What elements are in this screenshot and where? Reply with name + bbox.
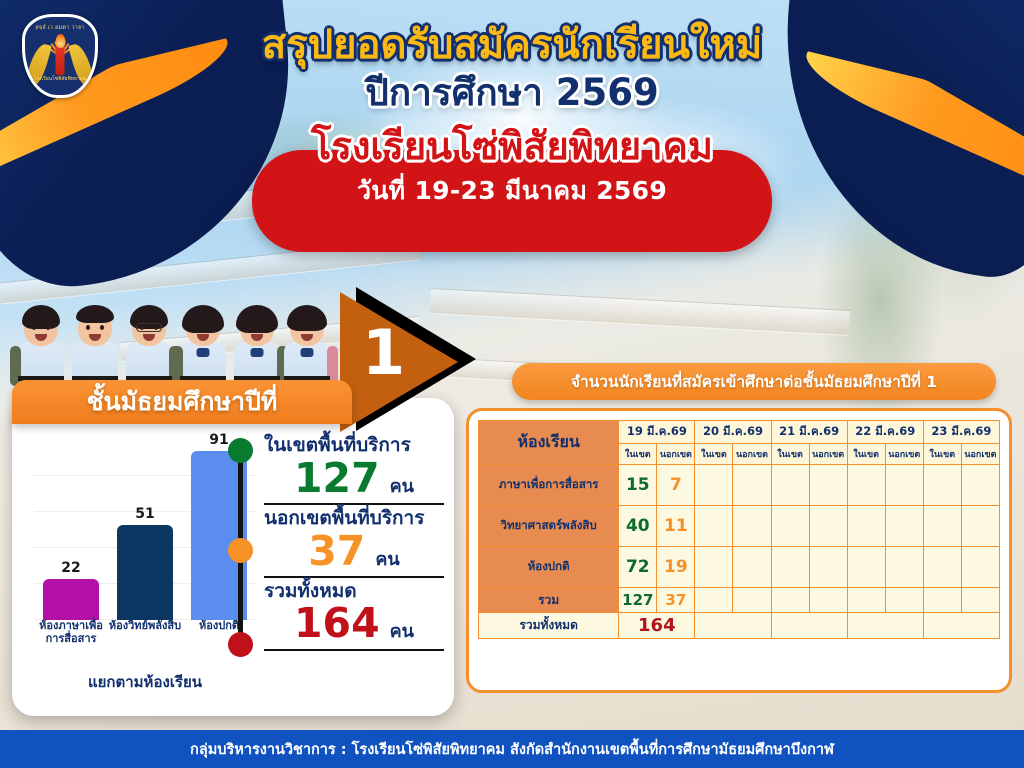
bar-series: 22 51 91 — [34, 434, 256, 620]
bar-rect — [117, 525, 173, 620]
stat-out-zone: นอกเขตพื้นที่บริการ 37 คน — [264, 507, 444, 578]
table-cell — [885, 506, 923, 547]
student-head — [240, 310, 274, 346]
left-card-header: ชั้นมัธยมศึกษาปีที่ — [12, 380, 352, 424]
table-sum-row: รวม 127 37 — [479, 588, 1000, 613]
table-subheader-in: ในเขต — [771, 444, 809, 465]
bar-chart: 22 51 91 ห้องภาษาเพื่อการสื่อสาร ห้องวิท… — [34, 434, 256, 662]
table-row-label: ภาษาเพื่อการสื่อสาร — [479, 465, 619, 506]
table-cell — [885, 588, 923, 613]
stat-unit: คน — [390, 471, 414, 500]
table-date-header: 19 มี.ค.69 — [619, 421, 695, 444]
table-row-label: ห้องปกติ — [479, 547, 619, 588]
table-cell — [923, 547, 961, 588]
wheat-icon — [68, 42, 96, 91]
stat-total: รวมทั้งหมด 164 คน — [264, 580, 444, 651]
logo-school-name: โรงเรียนโซ่พิสัยพิทยาคม — [25, 77, 95, 82]
student-head — [132, 310, 166, 346]
table-cell — [695, 465, 733, 506]
table-cell — [809, 465, 847, 506]
table-corner-header: ห้องเรียน — [479, 421, 619, 465]
bar-rect — [43, 579, 99, 620]
table-subheader-in: ในเขต — [695, 444, 733, 465]
table-grand-cell — [771, 613, 847, 639]
stat-dot-out-zone — [228, 538, 253, 563]
table-date-header: 22 มี.ค.69 — [847, 421, 923, 444]
title-line-2: ปีการศึกษา 2569 — [0, 72, 1024, 115]
table-grand-label: รวมทั้งหมด — [479, 613, 619, 639]
table-cell: 7 — [657, 465, 695, 506]
infographic-canvas: สจฺจํ เว อมตา วาจา โรงเรียนโซ่พิสัยพิทยา… — [0, 0, 1024, 768]
table-cell — [847, 465, 885, 506]
table-title-banner: จำนวนนักเรียนที่สมัครเข้าศึกษาต่อชั้นมัธ… — [512, 363, 996, 400]
wheat-icon — [24, 42, 52, 91]
table-cell: 72 — [619, 547, 657, 588]
table-cell — [885, 465, 923, 506]
table-cell — [961, 506, 999, 547]
student-head — [186, 310, 220, 346]
table-grand-cell — [923, 613, 999, 639]
table-cell — [809, 506, 847, 547]
stat-value: 164 — [294, 602, 380, 645]
table-date-header: 23 มี.ค.69 — [923, 421, 999, 444]
table-cell — [885, 547, 923, 588]
table-cell — [847, 588, 885, 613]
stat-unit: คน — [390, 616, 414, 645]
table-subheader-out: นอกเขต — [809, 444, 847, 465]
table-row: ห้องปกติ 72 19 — [479, 547, 1000, 588]
table-cell — [733, 465, 771, 506]
admissions-table-card: ห้องเรียน 19 มี.ค.69 20 มี.ค.69 21 มี.ค.… — [466, 408, 1012, 693]
left-card-header-label: ชั้นมัธยมศึกษาปีที่ — [87, 382, 278, 422]
table-grand-cell: 164 — [619, 613, 695, 639]
table-cell: 40 — [619, 506, 657, 547]
school-logo: สจฺจํ เว อมตา วาจา โรงเรียนโซ่พิสัยพิทยา… — [22, 14, 98, 98]
table-cell: 11 — [657, 506, 695, 547]
table-cell: 19 — [657, 547, 695, 588]
stat-value: 127 — [294, 457, 380, 500]
stat-in-zone: ในเขตพื้นที่บริการ 127 คน — [264, 434, 444, 505]
table-row: ภาษาเพื่อการสื่อสาร 15 7 — [479, 465, 1000, 506]
table-grand-row: รวมทั้งหมด 164 — [479, 613, 1000, 639]
torch-icon — [56, 43, 65, 75]
stat-value: 37 — [308, 530, 365, 573]
table-date-header: 21 มี.ค.69 — [771, 421, 847, 444]
table-grand-cell — [847, 613, 923, 639]
table-subheader-out: นอกเขต — [657, 444, 695, 465]
table-cell — [695, 506, 733, 547]
table-cell — [923, 506, 961, 547]
bar-value-label: 22 — [61, 560, 80, 576]
bar-item: 22 — [41, 560, 101, 620]
table-cell — [695, 588, 733, 613]
table-row: วิทยาศาสตร์พลังสิบ 40 11 — [479, 506, 1000, 547]
footer-bar: กลุ่มบริหารงานวิชาการ : โรงเรียนโซ่พิสัย… — [0, 730, 1024, 768]
table-grand-cell — [695, 613, 771, 639]
table-cell — [961, 547, 999, 588]
table-cell — [733, 547, 771, 588]
student-head — [24, 310, 58, 346]
table-cell — [809, 588, 847, 613]
table-subheader-out: นอกเขต — [961, 444, 999, 465]
bar-category-labels: ห้องภาษาเพื่อการสื่อสาร ห้องวิทย์พลังสิบ… — [34, 620, 256, 656]
student-head — [290, 310, 324, 346]
table-cell — [771, 547, 809, 588]
header-titles: สรุปยอดรับสมัครนักเรียนใหม่ ปีการศึกษา 2… — [0, 22, 1024, 211]
student-head — [78, 310, 112, 346]
table-title-label: จำนวนนักเรียนที่สมัครเข้าศึกษาต่อชั้นมัธ… — [571, 369, 937, 394]
table-subheader-out: นอกเขต — [885, 444, 923, 465]
table-subheader-out: นอกเขต — [733, 444, 771, 465]
stats-panel: ในเขตพื้นที่บริการ 127 คน นอกเขตพื้นที่บ… — [264, 434, 444, 653]
table-cell — [961, 588, 999, 613]
table-subheader-in: ในเขต — [619, 444, 657, 465]
stat-dot-total — [228, 632, 253, 657]
table-cell — [733, 588, 771, 613]
bar-category-label: ห้องภาษาเพื่อการสื่อสาร — [34, 620, 108, 656]
table-date-header: 20 มี.ค.69 — [695, 421, 771, 444]
table-cell — [923, 465, 961, 506]
title-school-name: โรงเรียนโซ่พิสัยพิทยาคม — [0, 124, 1024, 168]
logo-motto-text: สจฺจํ เว อมตา วาจา — [25, 26, 95, 32]
summary-card: 22 51 91 ห้องภาษาเพื่อการสื่อสาร ห้องวิท… — [12, 398, 454, 716]
table-cell — [771, 506, 809, 547]
table-cell — [771, 465, 809, 506]
table-cell: 37 — [657, 588, 695, 613]
table-subheader-in: ในเขต — [847, 444, 885, 465]
chart-x-axis-caption: แยกตามห้องเรียน — [34, 670, 256, 694]
table-cell — [847, 506, 885, 547]
table-subheader-in: ในเขต — [923, 444, 961, 465]
table-cell — [923, 588, 961, 613]
table-row-label: วิทยาศาสตร์พลังสิบ — [479, 506, 619, 547]
table-cell — [771, 588, 809, 613]
table-cell — [847, 547, 885, 588]
shield-icon: สจฺจํ เว อมตา วาจา โรงเรียนโซ่พิสัยพิทยา… — [22, 14, 98, 98]
grade-number: 1 — [362, 322, 405, 384]
title-date-range: วันที่ 19-23 มีนาคม 2569 — [0, 171, 1024, 211]
table-row-label: รวม — [479, 588, 619, 613]
stat-unit: คน — [375, 544, 399, 573]
bar-value-label: 91 — [209, 432, 228, 448]
table-cell — [809, 547, 847, 588]
table-header-row: ห้องเรียน 19 มี.ค.69 20 มี.ค.69 21 มี.ค.… — [479, 421, 1000, 444]
admissions-table: ห้องเรียน 19 มี.ค.69 20 มี.ค.69 21 มี.ค.… — [478, 420, 1000, 639]
footer-text: กลุ่มบริหารงานวิชาการ : โรงเรียนโซ่พิสัย… — [190, 738, 834, 761]
stat-dot-in-zone — [228, 438, 253, 463]
bar-item: 51 — [115, 506, 175, 620]
table-cell: 127 — [619, 588, 657, 613]
title-line-1: สรุปยอดรับสมัครนักเรียนใหม่ — [0, 22, 1024, 68]
table-cell: 15 — [619, 465, 657, 506]
table-cell — [695, 547, 733, 588]
bar-category-label: ห้องวิทย์พลังสิบ — [108, 620, 182, 656]
table-cell — [961, 465, 999, 506]
table-cell — [733, 506, 771, 547]
bar-value-label: 51 — [135, 506, 154, 522]
